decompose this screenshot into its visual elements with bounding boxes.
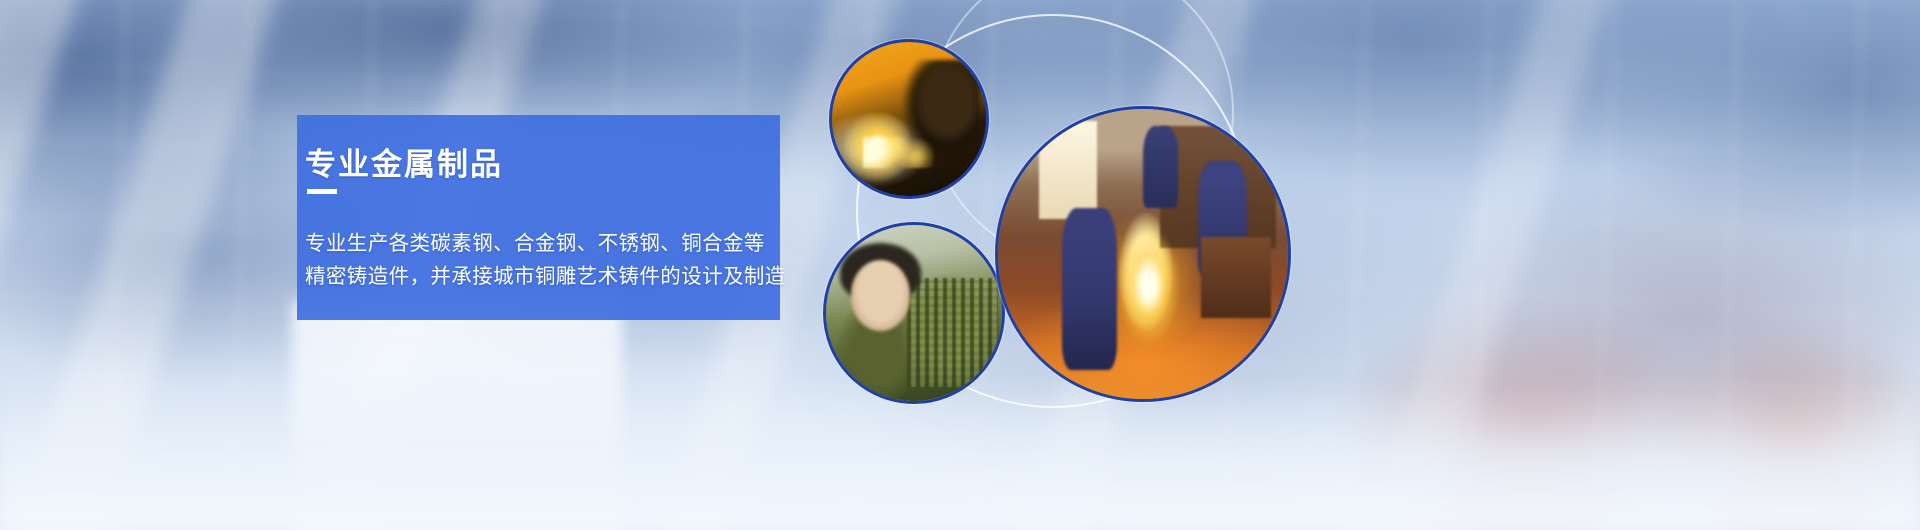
coil-inspection-photo-castings [907, 278, 999, 387]
foundry-pour-photo-worker-front [1062, 208, 1117, 370]
promo-card-content: 专业金属制品 专业生产各类碳素钢、合金钢、不锈钢、铜合金等 精密铸造件，并承接城… [297, 115, 857, 320]
background-floor-glow [0, 380, 1920, 530]
page-title: 专业金属制品 [305, 139, 503, 184]
welding-photo [829, 39, 989, 199]
promo-description-line-2: 精密铸造件，并承接城市铜雕艺术铸件的设计及制造 [305, 260, 786, 293]
hero-banner: 专业金属制品 专业生产各类碳素钢、合金钢、不锈钢、铜合金等 精密铸造件，并承接城… [0, 0, 1920, 530]
foundry-pour-photo-worker-back [1143, 126, 1178, 207]
coil-inspection-photo [823, 222, 1005, 404]
coil-inspection-photo-worker-face [851, 260, 911, 330]
foundry-pour-photo-molten-metal [1108, 225, 1189, 376]
foundry-pour-photo-window [1039, 121, 1097, 220]
welding-photo-sparks [863, 137, 934, 168]
title-divider [307, 189, 337, 194]
promo-description: 专业生产各类碳素钢、合金钢、不锈钢、铜合金等 精密铸造件，并承接城市铜雕艺术铸件… [305, 227, 786, 293]
foundry-pour-photo-ladle [1201, 237, 1271, 318]
foundry-pour-photo [995, 106, 1291, 402]
promo-description-line-1: 专业生产各类碳素钢、合金钢、不锈钢、铜合金等 [305, 227, 786, 260]
